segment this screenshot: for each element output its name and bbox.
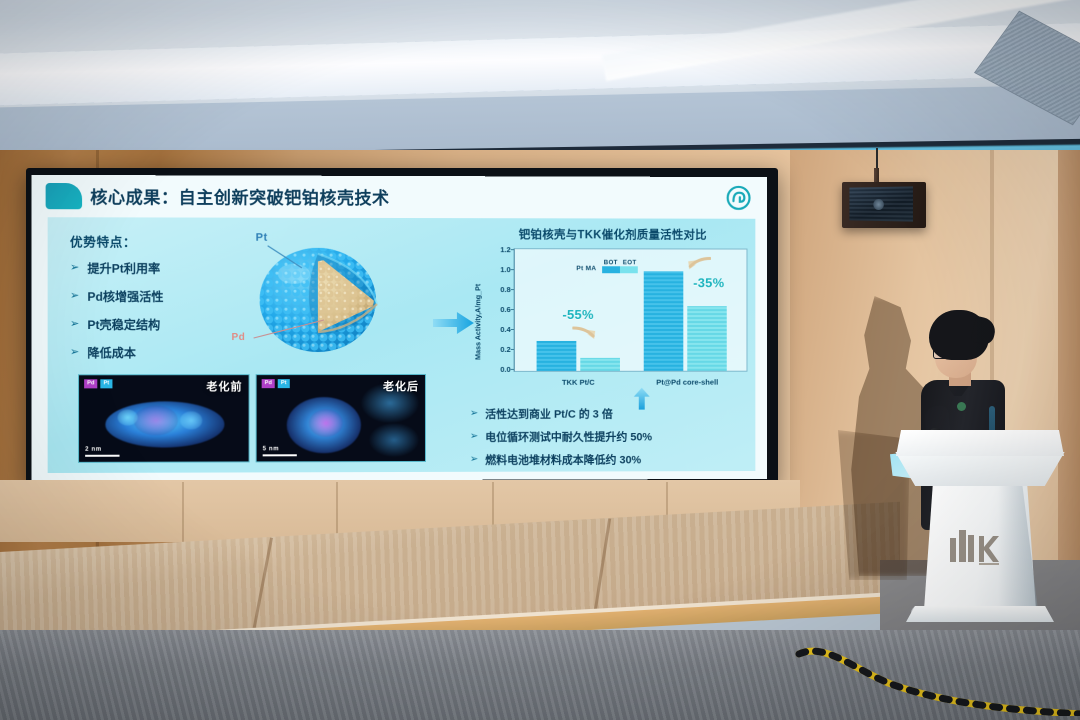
spiral-circle-logo [726,185,752,211]
y-tick-label: 0.2 [485,345,511,354]
annotation-delta-ptpd: -35% [693,275,724,290]
list-item: ➢ 活性达到商业 Pt/C 的 3 倍 [470,405,757,421]
tem-scale-label: 2 nm [85,446,119,452]
y-tick-label: 0.4 [485,325,511,334]
tem-scale-bar: 2 nm [85,446,119,457]
x-tick-label: Pt@Pd core-shell [640,378,735,387]
advantage-label: Pd核增强活性 [87,288,163,305]
bar-tkk-bot [537,341,577,371]
legend-swatch-eot [620,266,638,273]
bullet-marker: ➢ [70,319,79,330]
tem-tag-pt: Pt [278,379,290,388]
podium-column-shading [998,482,1038,610]
chart-title: 钯铂核壳与TKK催化剂质量活性对比 [474,226,752,242]
podium [890,430,1070,625]
core-shell-nanoparticle-diagram: Pt Pd [238,234,398,369]
speaker-front [849,186,913,221]
list-item: ➢ 燃料电池堆材料成本降低约 30% [470,451,757,468]
tem-element-tags: Pd Pt [262,379,290,388]
bar-ptpd-bot [644,271,684,371]
list-item: ➢ 电位循环测试中耐久性提升约 50% [470,428,757,445]
bullet-marker: ➢ [70,263,79,274]
list-item: ➢ Pd核增强活性 [70,288,240,305]
hk-podium-logo [946,522,1004,566]
result-label: 电位循环测试中耐久性提升约 50% [485,428,652,444]
bullet-marker: ➢ [70,291,79,302]
list-item: ➢ Pt壳稳定结构 [70,316,240,333]
tem-caption: 老化前 [206,378,242,394]
stage-face-seam [182,482,184,542]
tem-tag-pd: Pd [84,379,97,388]
tem-tag-pd: Pd [262,379,275,388]
presentation-screen-bezel: 核心成果：自主创新突破钯铂核壳技术 优势特点： ➢ 提升Pt利用率 [26,168,778,488]
y-tick-label: 0.6 [485,305,511,314]
tem-scale-label: 5 nm [263,446,297,452]
chart-axes-frame: Pt MA BOT EOT [514,248,748,372]
presenter-hair-tuft [970,316,998,347]
results-block: ➢ 活性达到商业 Pt/C 的 3 倍 ➢ 电位循环测试中耐久性提升约 50% … [470,405,757,474]
advantage-label: Pt壳稳定结构 [87,316,160,333]
bar-ptpd-eot [687,306,726,371]
legend-swatch-bot [602,266,620,273]
bar-tkk-eot [580,358,620,371]
slide: 核心成果：自主创新突破钯铂核壳技术 优势特点： ➢ 提升Pt利用率 [31,175,767,481]
bullet-marker: ➢ [70,347,79,358]
legend-title: Pt MA [576,265,596,273]
slide-content: 优势特点： ➢ 提升Pt利用率 ➢ Pd核增强活性 ➢ Pt壳稳定结构 [48,217,756,473]
y-axis-label: Mass Activity,A/mg_Pt [472,270,484,374]
annotation-arrow-icon [572,325,598,341]
bullet-marker: ➢ [470,455,478,465]
result-label: 燃料电池堆材料成本降低约 30% [485,451,641,467]
presentation-screen: 核心成果：自主创新突破钯铂核壳技术 优势特点： ➢ 提升Pt利用率 [31,175,767,481]
list-item: ➢ 提升Pt利用率 [70,260,240,277]
conference-room-photo: 核心成果：自主创新突破钯铂核壳技术 优势特点： ➢ 提升Pt利用率 [0,0,1080,720]
podium-desktop [896,430,1064,456]
bullet-marker: ➢ [470,432,478,442]
nanoparticle-shell-label: Pt [256,232,268,244]
annotation-arrow-icon [685,255,711,271]
advantage-label: 提升Pt利用率 [87,260,160,277]
podium-desk-underside [890,452,1070,486]
legend-entry-eot: EOT [623,259,637,266]
presenter-badge [957,402,966,411]
speaker-body [842,182,926,228]
right-arrow-icon [433,310,475,336]
advantage-label: 降低成本 [87,344,136,361]
tem-element-tags: Pd Pt [84,379,112,388]
podium-base [906,606,1054,622]
x-tick-label: TKK Pt/C [537,378,620,387]
tem-image-after-aging: Pd Pt 老化后 5 nm [256,374,426,462]
legend-entry-bot: BOT [604,259,618,266]
slide-title-tab [46,183,82,209]
result-label: 活性达到商业 Pt/C 的 3 倍 [485,406,613,422]
bullet-marker: ➢ [470,409,478,419]
annotation-delta-tkk: -55% [562,307,593,322]
slide-title: 核心成果：自主创新突破钯铂核壳技术 [90,183,730,210]
tem-tag-pt: Pt [100,379,112,388]
wall-speaker-icon [842,182,926,234]
chart-legend: Pt MA BOT EOT [576,259,638,273]
y-tick-label: 0.8 [485,285,511,294]
tem-image-before-aging: Pd Pt 老化前 2 nm [78,374,250,463]
nanoparticle-core-label: Pd [231,332,245,343]
advantages-heading: 优势特点： [70,231,240,250]
advantages-block: 优势特点： ➢ 提升Pt利用率 ➢ Pd核增强活性 ➢ Pt壳稳定结构 [70,231,240,372]
tem-scale-bar: 5 nm [263,446,297,457]
y-tick-label: 0.0 [485,365,511,374]
list-item: ➢ 降低成本 [70,344,240,361]
cable-protector-tape [795,636,1080,716]
y-tick-label: 1.2 [485,245,511,254]
mass-activity-bar-chart: 钯铂核壳与TKK催化剂质量活性对比 Mass Activity,A/mg_Pt … [474,226,752,398]
chart-plot-area: Mass Activity,A/mg_Pt 1.2 1.0 0.8 0.6 0.… [474,244,752,394]
tem-caption: 老化后 [383,378,419,394]
y-tick-label: 1.0 [485,265,511,274]
